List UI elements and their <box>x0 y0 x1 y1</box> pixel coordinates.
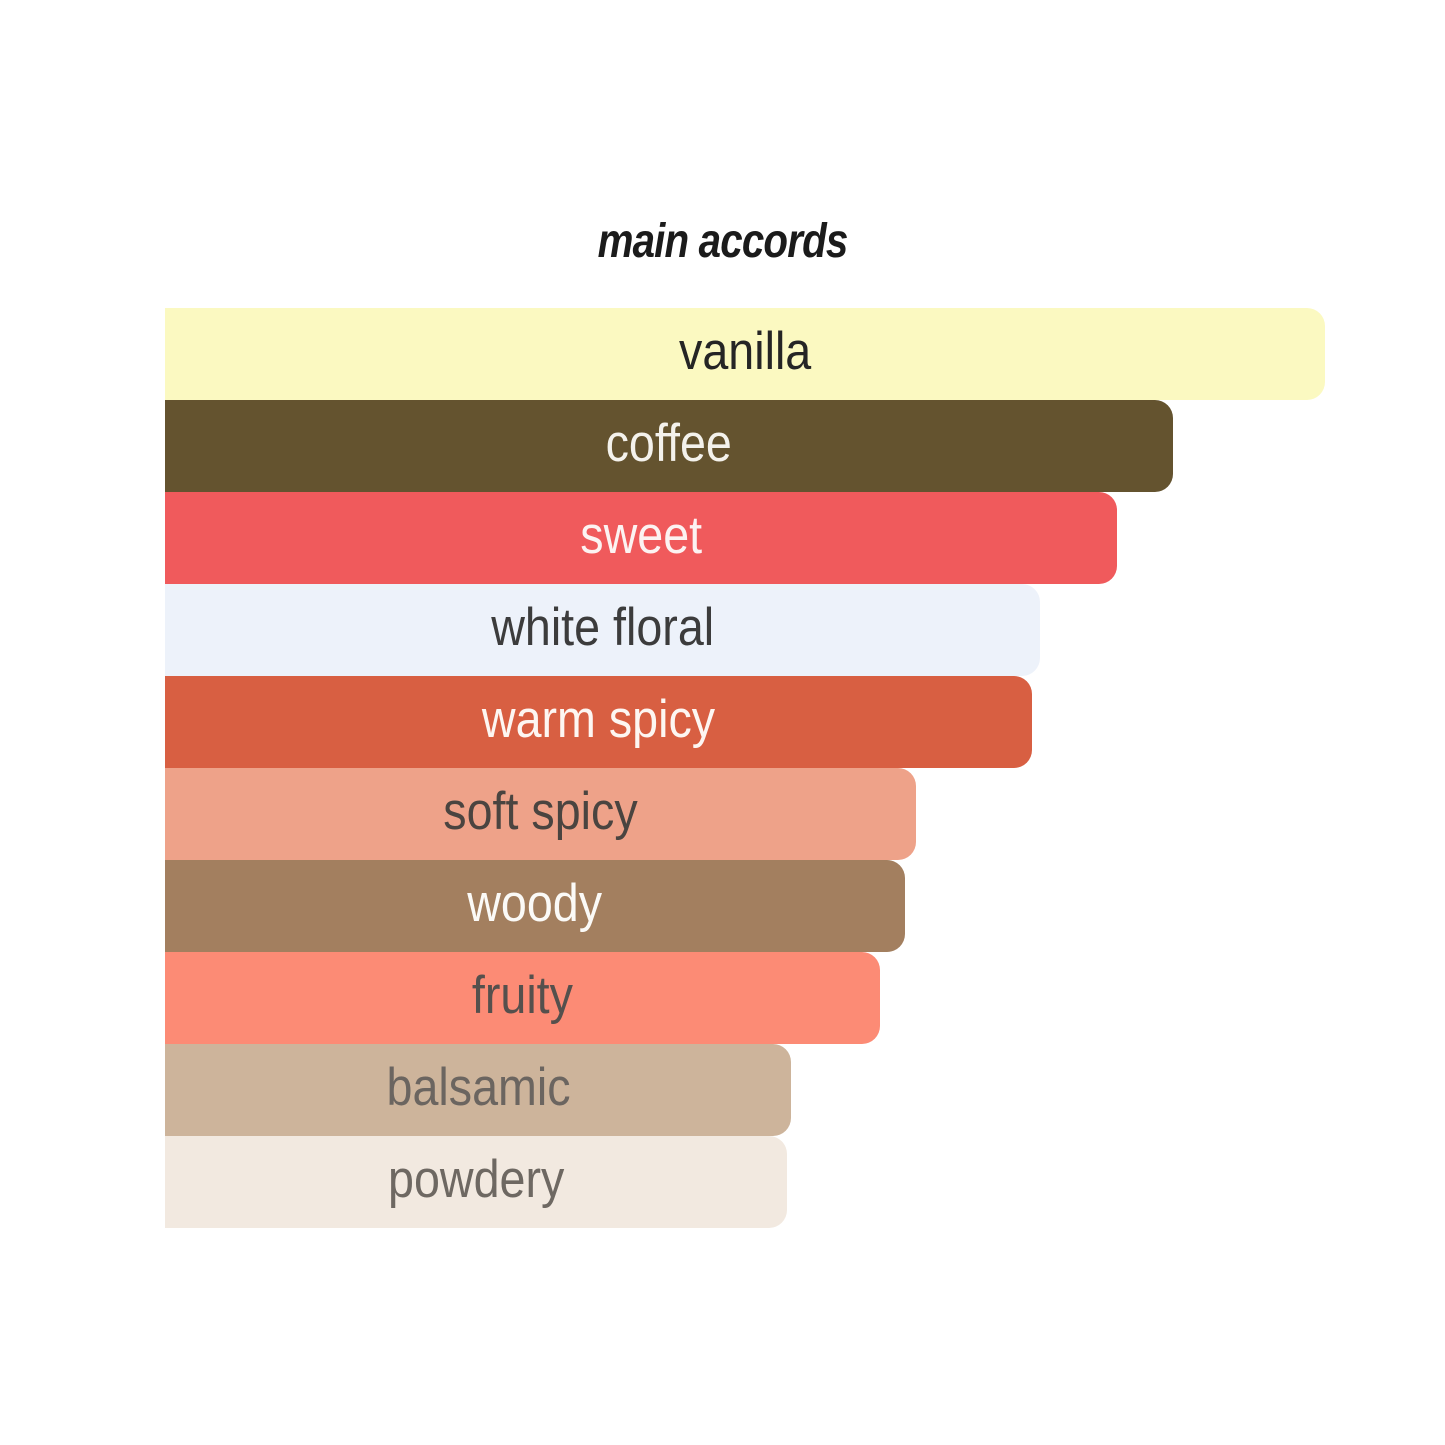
accord-bar-list: vanillacoffeesweetwhite floralwarm spicy… <box>165 308 1325 1228</box>
accord-label: balsamic <box>386 1042 570 1134</box>
accord-label: coffee <box>606 398 732 490</box>
accords-panel: main accords vanillacoffeesweetwhite flo… <box>0 0 1445 1445</box>
accord-label: powdery <box>388 1134 564 1226</box>
accord-label: soft spicy <box>443 766 637 858</box>
accord-label: warm spicy <box>482 674 715 766</box>
accord-bar-sweet[interactable]: sweet <box>165 492 1117 584</box>
accord-label: vanilla <box>679 306 811 398</box>
accord-bar-fruity[interactable]: fruity <box>165 952 880 1044</box>
accord-bar-woody[interactable]: woody <box>165 860 905 952</box>
accord-bar-soft-spicy[interactable]: soft spicy <box>165 768 916 860</box>
accord-bar-coffee[interactable]: coffee <box>165 400 1173 492</box>
accord-bar-vanilla[interactable]: vanilla <box>165 308 1325 400</box>
accord-bar-balsamic[interactable]: balsamic <box>165 1044 791 1136</box>
page-title: main accords <box>116 212 1330 272</box>
accord-bar-warm-spicy[interactable]: warm spicy <box>165 676 1032 768</box>
accord-label: sweet <box>580 490 702 582</box>
accord-bar-powdery[interactable]: powdery <box>165 1136 787 1228</box>
accord-bar-white-floral[interactable]: white floral <box>165 584 1040 676</box>
accord-label: fruity <box>472 950 573 1042</box>
accord-label: woody <box>468 858 603 950</box>
accord-label: white floral <box>491 582 714 674</box>
